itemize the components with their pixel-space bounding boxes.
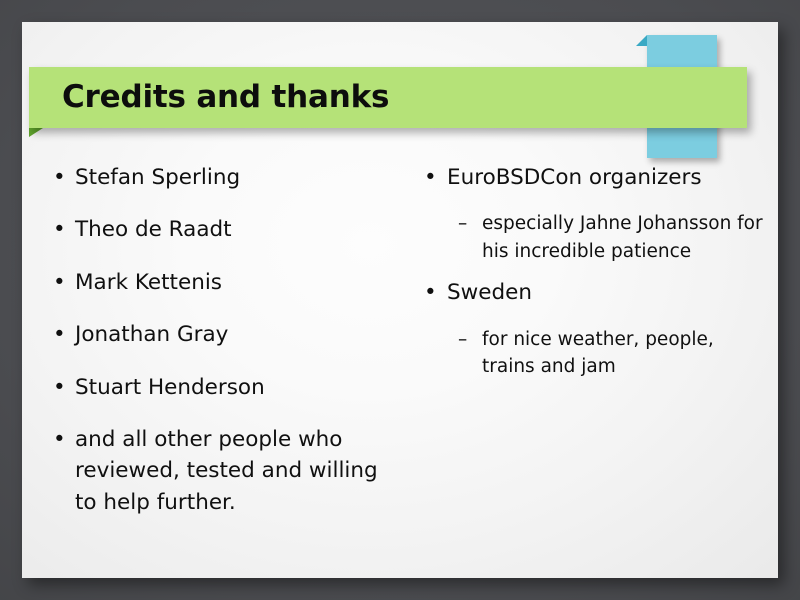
- right-bullet-column: • EuroBSDCon organizers – especially Jah…: [405, 140, 778, 578]
- list-item: • EuroBSDCon organizers: [423, 162, 766, 193]
- bullet-marker-icon: •: [424, 277, 437, 308]
- bullet-marker-icon: •: [53, 162, 66, 193]
- list-item: • Jonathan Gray: [53, 319, 395, 350]
- list-item-label: Theo de Raadt: [75, 214, 395, 245]
- sub-list-item: – especially Jahne Johansson for his inc…: [423, 210, 766, 265]
- bullet-marker-icon: •: [53, 267, 66, 298]
- list-item-label: and all other people who reviewed, teste…: [75, 424, 395, 518]
- sub-list-item-label: for nice weather, people, trains and jam: [482, 326, 766, 381]
- list-item-label: Sweden: [447, 277, 766, 308]
- list-item-label: Jonathan Gray: [75, 319, 395, 350]
- list-item: • Mark Kettenis: [53, 267, 395, 298]
- list-item: • Theo de Raadt: [53, 214, 395, 245]
- title-banner: Credits and thanks: [29, 67, 747, 128]
- list-item: • and all other people who reviewed, tes…: [53, 424, 395, 518]
- list-item-label: EuroBSDCon organizers: [447, 162, 766, 193]
- dash-marker-icon: –: [458, 210, 467, 237]
- list-item: • Sweden: [423, 277, 766, 308]
- list-item: • Stuart Henderson: [53, 372, 395, 403]
- bullet-marker-icon: •: [53, 214, 66, 245]
- page-title: Credits and thanks: [29, 82, 389, 113]
- bullet-marker-icon: •: [53, 424, 66, 455]
- slide-content: • Stefan Sperling • Theo de Raadt • Mark…: [22, 140, 778, 578]
- slide-canvas: Credits and thanks • Stefan Sperling • T…: [22, 22, 778, 578]
- title-banner-fold-icon: [29, 128, 43, 137]
- sub-list-item-label: especially Jahne Johansson for his incre…: [482, 210, 766, 265]
- accent-block-blue-fold-icon: [636, 35, 647, 46]
- list-item-label: Mark Kettenis: [75, 267, 395, 298]
- bullet-marker-icon: •: [53, 372, 66, 403]
- presentation-backdrop: Credits and thanks • Stefan Sperling • T…: [0, 0, 800, 600]
- list-item: • Stefan Sperling: [53, 162, 395, 193]
- list-item-label: Stefan Sperling: [75, 162, 395, 193]
- list-item-label: Stuart Henderson: [75, 372, 395, 403]
- dash-marker-icon: –: [458, 326, 467, 353]
- left-bullet-column: • Stefan Sperling • Theo de Raadt • Mark…: [22, 140, 405, 578]
- bullet-marker-icon: •: [424, 162, 437, 193]
- bullet-marker-icon: •: [53, 319, 66, 350]
- sub-list-item: – for nice weather, people, trains and j…: [423, 326, 766, 381]
